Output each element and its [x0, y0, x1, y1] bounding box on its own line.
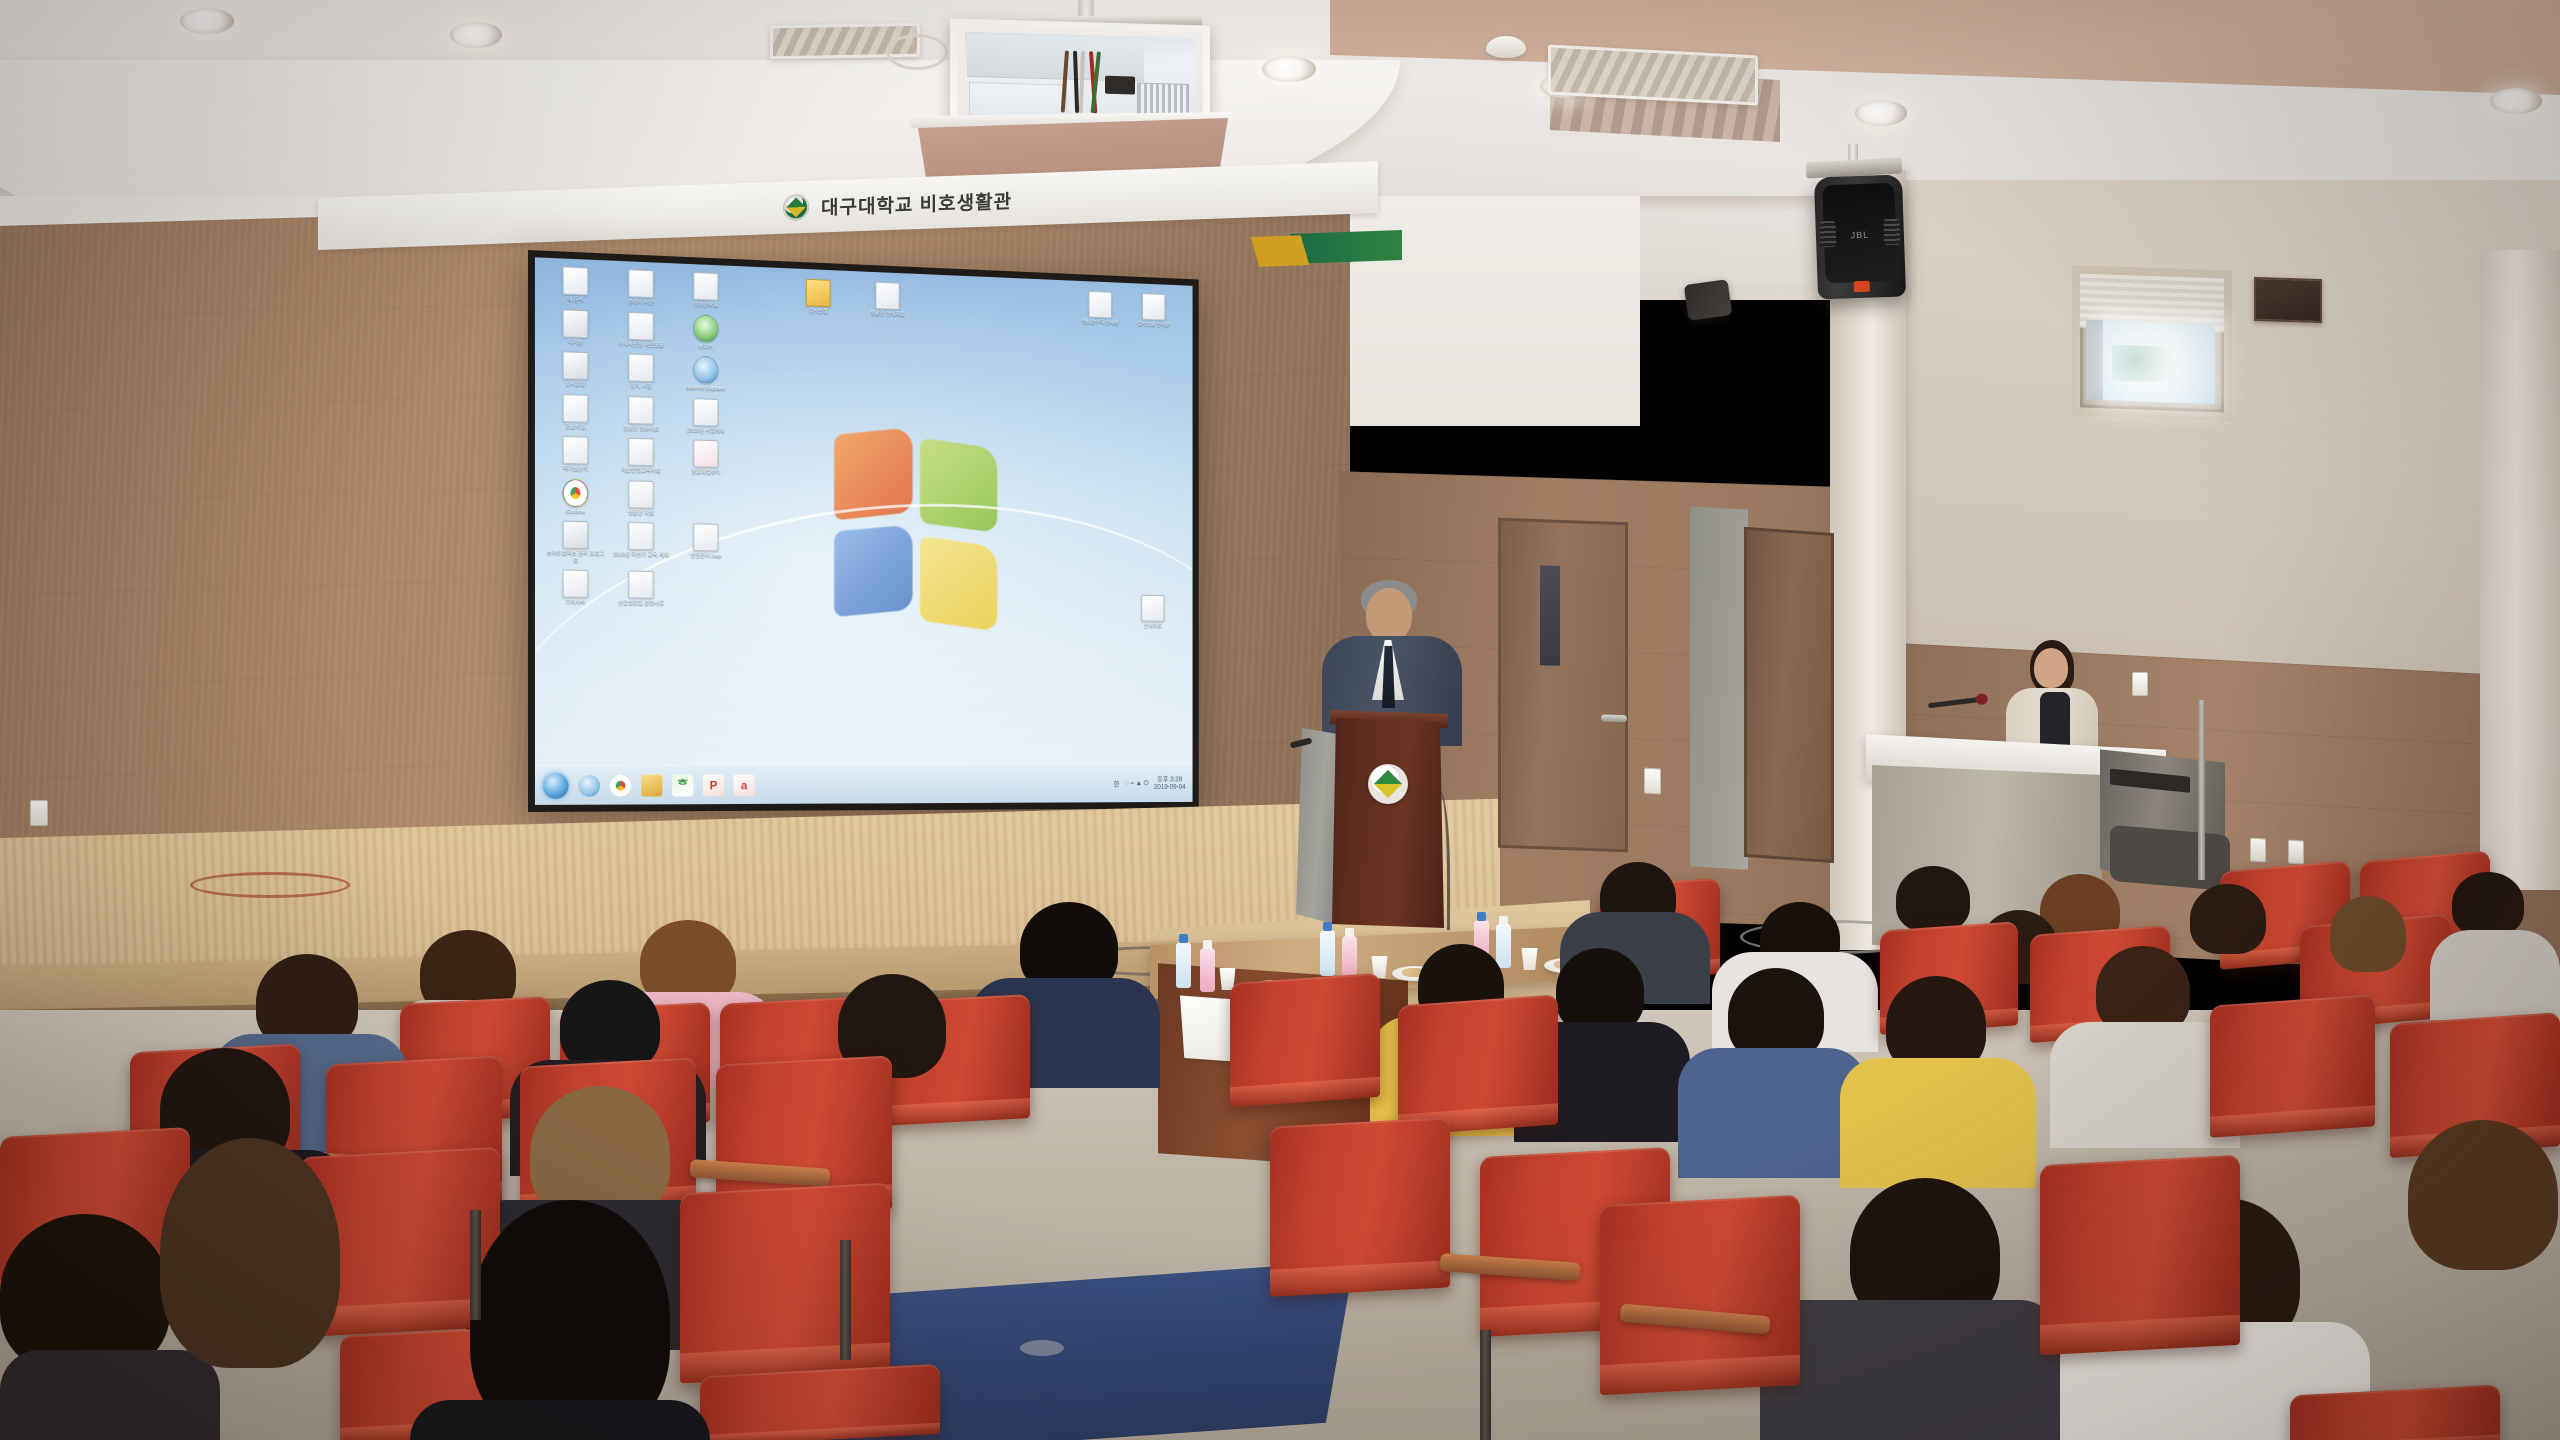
seat-l3-c2[interactable]	[680, 1182, 890, 1383]
wall-accent-yellow-right	[1251, 235, 1310, 266]
wall-outlet-far-right[interactable]	[2288, 839, 2304, 864]
alzip-icon[interactable]: a	[734, 774, 755, 796]
desktop-icon-7-0[interactable]: 기숙사비	[545, 569, 606, 606]
seat-r3-c1[interactable]	[1230, 973, 1380, 1107]
wall-mounted-panel	[2254, 277, 2322, 323]
desktop-icon-1-2[interactable]: 네이버	[676, 313, 736, 351]
desktop-icon-label: 네이버	[676, 343, 736, 352]
desktop-icon-label: 재난안전교육자료	[611, 467, 671, 475]
desktop-icon-label: 디지털	[545, 338, 606, 347]
desktop-icon-6-2[interactable]: 안전관리.hwp	[676, 523, 736, 566]
speaker-logo-badge	[1854, 281, 1870, 293]
desktop-icon-label: 공지 사항	[611, 383, 671, 391]
desktop-icon-label: 입사신청	[789, 307, 847, 316]
desktop-icon-label: 기숙사신청 사진모음	[611, 341, 671, 350]
pink-icon	[693, 440, 718, 468]
projected-desktop: 내 문서스캐너 사진생활관파일디지털기숙사신청 사진모음네이버날씨알림공지 사항…	[535, 257, 1193, 805]
desktop-icon-6-1[interactable]: 2019년 하반기 교육 계획	[611, 522, 671, 566]
desktop-icon-lone[interactable]: 안내자료	[1132, 595, 1173, 630]
desktop-icon-label: 생활관 자료	[611, 509, 671, 517]
desktop-icon-label: 스마트캠퍼스 관리 프로그램	[545, 550, 606, 564]
desktop-icon-row-5: Chrome생활관 자료	[545, 478, 787, 519]
door-vision-panel	[1537, 562, 1563, 669]
desktop-icon-3-1[interactable]: 생활관 정보자료	[611, 395, 671, 433]
seat-leg-l1	[470, 1210, 481, 1320]
audience-body-rc1	[1760, 1300, 2060, 1440]
desktop-icon-row-1: 디지털기숙사신청 사진모음네이버	[545, 308, 787, 353]
desktop-icon-0-2[interactable]: 생활관파일	[676, 271, 736, 309]
desktop-icon-grid: 내 문서스캐너 사진생활관파일디지털기숙사신청 사진모음네이버날씨알림공지 사항…	[545, 266, 787, 615]
audience-head-fr1	[2190, 884, 2266, 954]
audience-head-lc2	[160, 1138, 340, 1368]
desktop-icon-mid-0[interactable]: 입사신청	[789, 278, 847, 316]
blue-icon	[563, 309, 589, 338]
small-wall-speaker	[1684, 279, 1733, 321]
desktop-icon-label: 안내자료	[1132, 623, 1173, 630]
desktop-icon-label: 스캐너 사진	[611, 298, 671, 307]
carpet-emblem	[1020, 1340, 1064, 1356]
desktop-icon-spacer-7-2	[676, 571, 736, 608]
folder-icon	[806, 279, 831, 307]
desktop-icon-0-1[interactable]: 스캐너 사진	[611, 269, 671, 308]
light-switch-right[interactable]	[1644, 768, 1661, 795]
tray-icons[interactable]: ◌ ⌁ ▲ ⏻	[1125, 779, 1149, 788]
audience-head-fr2	[2452, 872, 2524, 936]
podium-side-panel	[1296, 728, 1338, 924]
lecture-hall-photo: 대구대학교 비호생활관 JBL 내 문서스캐너 사진생활관파일디지털기숙	[0, 0, 2560, 1440]
desktop-icon-5-1[interactable]: 생활관 자료	[611, 479, 671, 516]
chrome-icon[interactable]	[610, 774, 631, 796]
hancom-hanword-icon[interactable]: ᄒ	[672, 774, 693, 796]
exterior-window	[2072, 265, 2232, 421]
desktop-icon-right-0[interactable]: 생활관수칙 안내문	[1077, 290, 1124, 327]
speaker-side-grip-left	[1819, 221, 1836, 248]
audience-head-fr3	[2330, 896, 2406, 972]
desktop-icon-2-2[interactable]: Internet Explorer	[676, 355, 736, 393]
water-bottle-1	[1176, 942, 1191, 988]
chrome-icon	[563, 478, 589, 506]
powerpoint-icon[interactable]: P	[703, 774, 724, 796]
desktop-icon-row-6: 스마트캠퍼스 관리 프로그램2019년 하반기 교육 계획안전관리.hwp	[545, 520, 787, 567]
audience-body-lc3	[410, 1400, 710, 1440]
desktop-icon-0-0[interactable]: 내 문서	[545, 266, 606, 305]
staff-head	[2034, 648, 2068, 688]
water-bottle-2	[1320, 930, 1335, 976]
pink-drink-2	[1342, 936, 1357, 980]
stage-cable-left	[190, 872, 350, 898]
downlight-6	[2490, 88, 2542, 114]
windows-start-orb-icon[interactable]	[543, 772, 569, 798]
downlight-1	[180, 8, 234, 34]
wall-switch-console[interactable]	[2132, 672, 2148, 696]
ie-icon	[693, 356, 718, 384]
desktop-icon-label: 생활관 정보자료	[611, 425, 671, 433]
desktop-icon-label: 2019년 사업계획	[676, 427, 736, 435]
lectern	[1332, 718, 1444, 928]
desktop-icon-3-0[interactable]: 한글파일	[545, 393, 606, 431]
desktop-icons-middle: 입사신청생활관 안내자료	[789, 278, 916, 319]
doc-icon	[628, 311, 653, 340]
doc-icon	[693, 523, 718, 551]
audience-body-fr2	[2430, 930, 2560, 1020]
desktop-icon-label: 2019년 하반기 교육 계획	[611, 551, 671, 558]
green-icon	[693, 314, 718, 343]
downlight-5	[1855, 100, 1907, 126]
desktop-icon-label: Internet Explorer	[676, 385, 736, 393]
desktop-icon-label: 생활관 안내자료	[859, 310, 917, 319]
venue-banner-text: 대구대학교 비호생활관	[821, 186, 1012, 220]
ceiling-conduit-loop	[886, 34, 948, 70]
light-switch-left[interactable]	[30, 800, 48, 826]
desktop-icon-1-0[interactable]: 디지털	[545, 308, 606, 347]
water-bottle-3	[1496, 924, 1511, 968]
side-door-secondary[interactable]	[1744, 527, 1834, 863]
desktop-icon-5-0[interactable]: Chrome	[545, 478, 606, 516]
doc-icon	[628, 522, 653, 550]
desktop-icons-right: 생활관수칙 안내문입사생활 안내문	[1077, 290, 1177, 329]
door-recess	[1690, 506, 1748, 870]
desktop-icon-label: 한글파일	[545, 423, 606, 431]
desktop-icon-label: 날씨알림	[545, 381, 606, 389]
seat-leg-l2	[840, 1240, 851, 1360]
doc-icon	[1142, 293, 1165, 320]
clock-time: 오후 3:28	[1157, 776, 1182, 783]
desktop-icon-2-1[interactable]: 공지 사항	[611, 353, 671, 391]
projection-screen: 내 문서스캐너 사진생활관파일디지털기숙사신청 사진모음네이버날씨알림공지 사항…	[528, 250, 1199, 812]
desktop-icon-label: 생활관수칙 안내문	[1077, 319, 1124, 327]
desktop-icon-3-2[interactable]: 2019년 사업계획	[676, 397, 736, 435]
desktop-icon-6-0[interactable]: 스마트캠퍼스 관리 프로그램	[545, 520, 606, 564]
desktop-icon-right-1[interactable]: 입사생활 안내문	[1131, 293, 1177, 329]
wall-outlet-right[interactable]	[2250, 837, 2266, 862]
desktop-icon-2-0[interactable]: 날씨알림	[545, 351, 606, 389]
tray-language-indicator[interactable]: 한	[1114, 779, 1120, 789]
seat-r4-c1[interactable]	[1270, 1117, 1450, 1296]
desktop-icon-1-1[interactable]: 기숙사신청 사진모음	[611, 311, 671, 349]
doc-icon	[563, 570, 589, 598]
seat-r4-c4[interactable]	[2040, 1155, 2240, 1355]
desktop-icon-label: 안전관리.hwp	[676, 553, 736, 560]
desktop-icon-label: 입사생활 안내문	[1131, 321, 1177, 329]
desktop-icon-label: 내 문서	[545, 296, 606, 305]
desktop-icon-row-4: 학기별관리재난안전교육자료한글과컴퓨터	[545, 435, 787, 477]
desktop-icon-spacer-5-2	[676, 481, 736, 518]
desktop-icon-label: 학기별관리	[545, 465, 606, 473]
doc-icon	[563, 394, 589, 423]
side-door-main[interactable]	[1498, 518, 1628, 853]
audience-head-rc3	[2408, 1120, 2558, 1270]
doc-icon	[628, 571, 653, 599]
daegu-university-emblem-icon	[783, 194, 809, 221]
pink-drink-1	[1200, 948, 1215, 992]
doc-icon	[628, 438, 653, 466]
doc-icon	[628, 396, 653, 424]
seat-r5-c4[interactable]	[2290, 1384, 2500, 1440]
door-handle-icon[interactable]	[1601, 714, 1627, 722]
speaker-stand-pole	[2198, 700, 2205, 880]
doc-icon	[563, 436, 589, 465]
doc-icon	[693, 398, 718, 426]
blue-icon	[563, 351, 589, 380]
speaker-side-grip-right	[1883, 219, 1900, 246]
desktop-icon-row-3: 한글파일생활관 정보자료2019년 사업계획	[545, 393, 787, 436]
doc-icon	[628, 480, 653, 508]
downlight-3	[1262, 56, 1316, 82]
taskbar-clock[interactable]: 오후 3:28 2019-09-04	[1154, 776, 1186, 791]
desktop-icon-label: 생활관파일	[676, 301, 736, 310]
speaker-brand-label: JBL	[1850, 229, 1869, 240]
desktop-icon-row-2: 날씨알림공지 사항Internet Explorer	[545, 351, 787, 395]
desktop-icon-label: 한글과컴퓨터	[676, 469, 736, 477]
smoke-detector	[1486, 36, 1526, 58]
desktop-icon-7-1[interactable]: 신입생모집 관련서류	[611, 570, 671, 607]
system-tray[interactable]: 한 ◌ ⌁ ▲ ⏻ 오후 3:28 2019-09-04	[1114, 776, 1186, 791]
doc-icon	[875, 282, 899, 310]
clock-date: 2019-09-04	[1154, 784, 1186, 791]
doc-icon	[628, 354, 653, 383]
audience-body-rb4	[1840, 1058, 2036, 1188]
desktop-icon-label: 기숙사비	[545, 599, 606, 606]
desktop-icon-row-0: 내 문서스캐너 사진생활관파일	[545, 266, 787, 312]
seat-r4-c3[interactable]	[1600, 1195, 1800, 1395]
desktop-icon-4-0[interactable]: 학기별관리	[545, 435, 606, 473]
seat-r3-c2[interactable]	[1398, 994, 1558, 1135]
doc-icon	[628, 269, 653, 298]
daegu-university-seal-icon	[1368, 764, 1408, 804]
operator-chair	[2110, 825, 2230, 891]
audience-body-lc1	[0, 1350, 220, 1440]
windows-taskbar[interactable]: ᄒ P a 한 ◌ ⌁ ▲ ⏻ 오후 3:28 2019-09-04	[535, 764, 1193, 805]
jbl-wall-speaker: JBL	[1814, 175, 1906, 300]
desktop-icon-4-1[interactable]: 재난안전교육자료	[611, 437, 671, 475]
seat-l4-c2[interactable]	[700, 1364, 940, 1440]
downlight-2	[450, 22, 502, 48]
document-icon	[1141, 595, 1164, 622]
structural-column-right	[2480, 250, 2560, 890]
doc-icon	[563, 266, 589, 295]
presenter-head	[1366, 588, 1412, 642]
blue-icon	[563, 521, 589, 549]
audience-head-ra3	[1896, 866, 1970, 932]
audience-cap-la4	[560, 980, 660, 1072]
projector-connector-block	[1105, 76, 1135, 95]
desktop-icon-mid-1[interactable]: 생활관 안내자료	[859, 281, 917, 319]
desktop-icon-row-7: 기숙사비신입생모집 관련서류	[545, 569, 787, 609]
window-glass	[2103, 320, 2215, 404]
seat-r3-c4[interactable]	[2210, 994, 2375, 1138]
desktop-icon-label: Chrome	[545, 508, 606, 516]
internet-explorer-icon[interactable]	[578, 774, 600, 796]
seat-leg-r1	[1480, 1330, 1491, 1440]
doc-icon	[693, 272, 718, 301]
desktop-icon-4-2[interactable]: 한글과컴퓨터	[676, 439, 736, 476]
doc-icon	[1089, 291, 1112, 319]
folder-icon[interactable]	[641, 774, 662, 796]
desktop-icon-label: 신입생모집 관련서류	[611, 600, 671, 607]
